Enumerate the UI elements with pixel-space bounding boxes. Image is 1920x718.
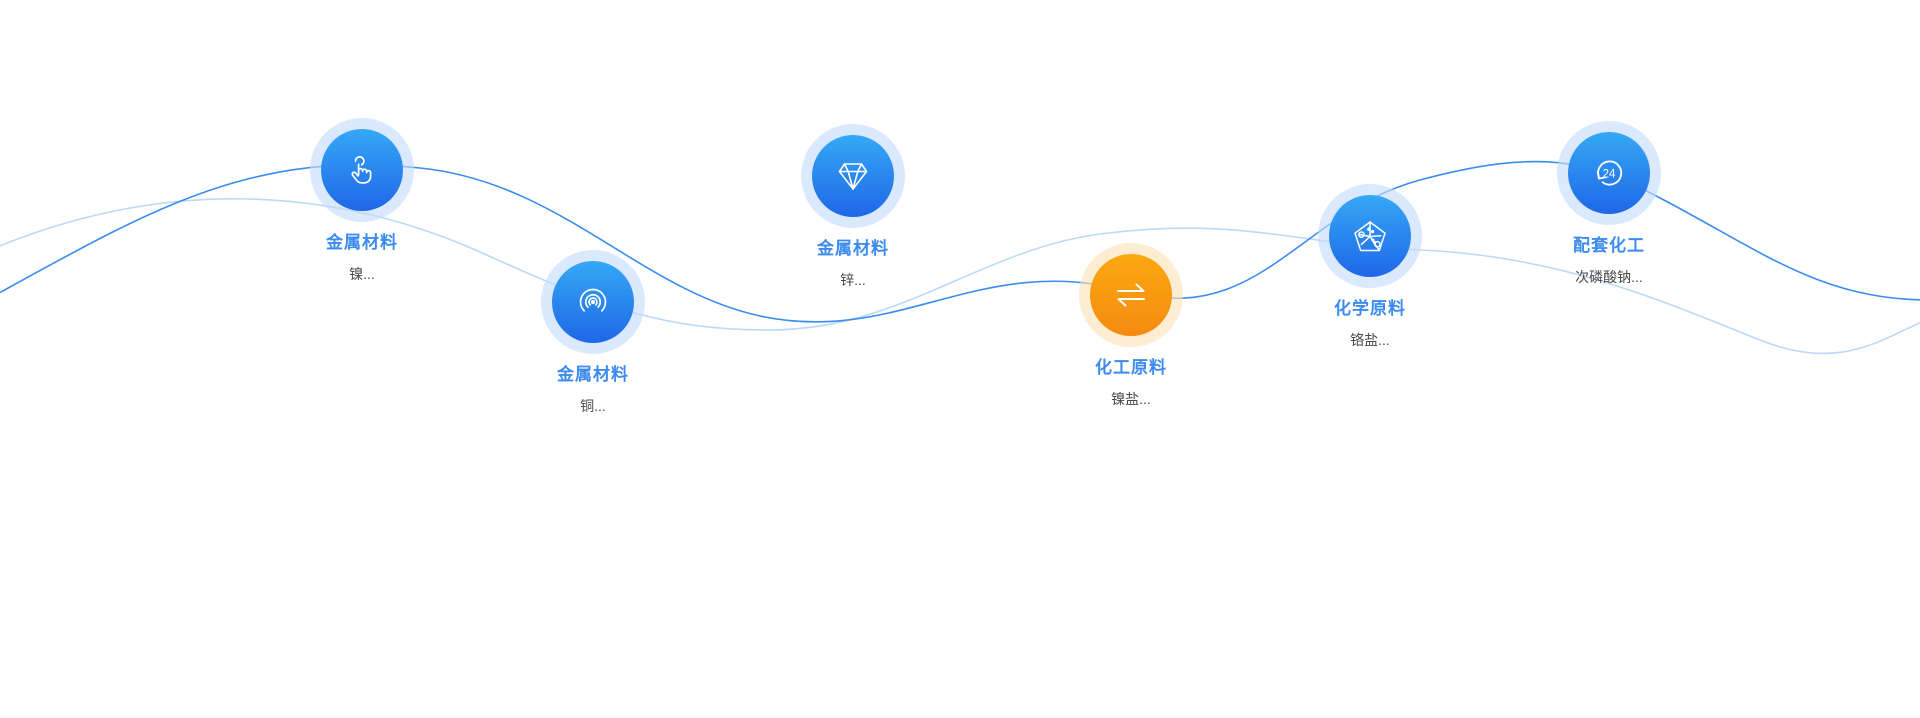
node-title: 化学原料 [1334,298,1406,319]
tap-hand-icon [342,150,382,190]
node-title: 化工原料 [1095,357,1167,378]
node-disc[interactable]: 24 [1568,132,1650,214]
node-title: 配套化工 [1573,235,1645,256]
node-label-group: 金属材料镍... [326,232,398,284]
supply-chain-canvas: 金属材料镍... 金属材料铜... 金属材料锌... 化工原料镍盐... [0,0,1920,718]
flow-curves [0,0,1920,718]
node-label-group: 配套化工次磷酸钠... [1573,235,1645,287]
exchange-arrows-icon [1108,272,1154,318]
node-label-group: 化工原料镍盐... [1095,357,1167,409]
node-label-group: 金属材料锌... [817,238,889,290]
node-subtitle: 次磷酸钠... [1573,269,1645,287]
node-subtitle: 镍... [326,266,398,284]
diamond-icon [831,154,875,198]
node-label-group: 化学原料铬盐... [1334,298,1406,350]
radar-signal-icon [572,281,614,323]
node-title: 金属材料 [817,238,889,259]
node-disc[interactable] [812,135,894,217]
node-disc[interactable] [1329,195,1411,277]
molecule-pentagon-icon [1348,214,1392,258]
node-subtitle: 铬盐... [1334,332,1406,350]
node-subtitle: 镍盐... [1095,391,1167,409]
node-subtitle: 锌... [817,272,889,290]
node-disc[interactable] [1090,254,1172,336]
node-title: 金属材料 [326,232,398,253]
node-disc[interactable] [321,129,403,211]
node-subtitle: 铜... [557,398,629,416]
svg-text:24: 24 [1603,168,1616,180]
node-label-group: 金属材料铜... [557,364,629,416]
node-disc[interactable] [552,261,634,343]
node-title: 金属材料 [557,364,629,385]
twentyfour-hour-icon: 24 [1587,151,1631,195]
